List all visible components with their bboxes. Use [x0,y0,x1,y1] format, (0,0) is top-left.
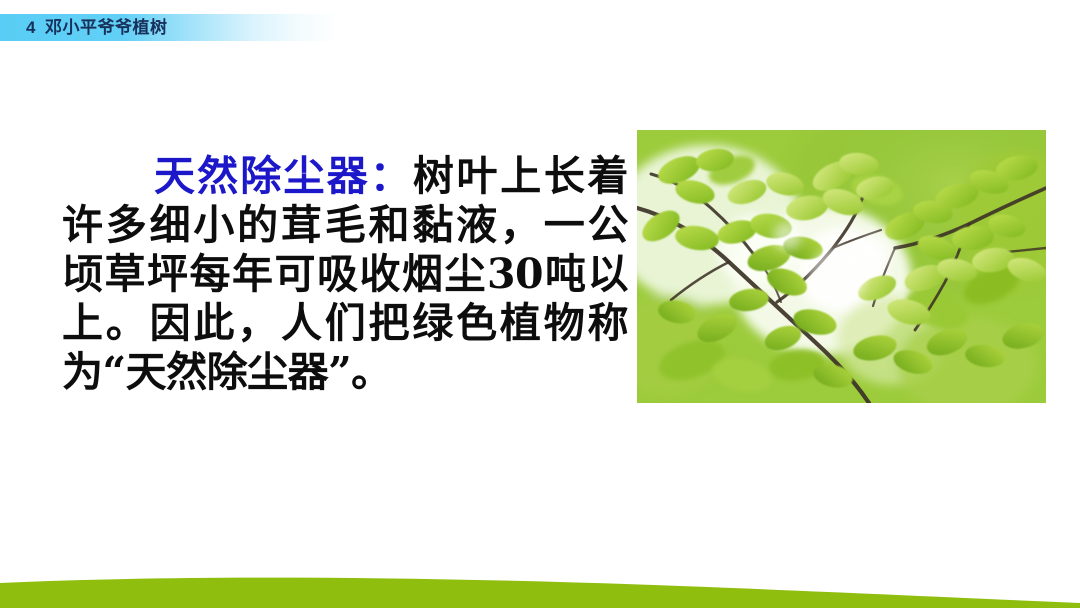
page-title: 4邓小平爷爷植树 [26,13,167,42]
slide-canvas: 4邓小平爷爷植树 天然除尘器：树叶上长着许多细小的茸毛和黏液，一公顷草坪每年可吸… [0,0,1080,608]
content-paragraph: 天然除尘器：树叶上长着许多细小的茸毛和黏液，一公顷草坪每年可吸收烟尘30吨以上。… [62,152,628,397]
bottom-green-wave [0,562,1080,608]
lesson-number: 4 [26,18,36,37]
leaves-photo [637,130,1046,403]
lead-label: 天然除尘器： [154,153,413,199]
leaves-photo-artwork [637,130,1046,403]
bottom-wave-shape [0,562,1080,608]
lesson-title: 邓小平爷爷植树 [45,18,168,37]
